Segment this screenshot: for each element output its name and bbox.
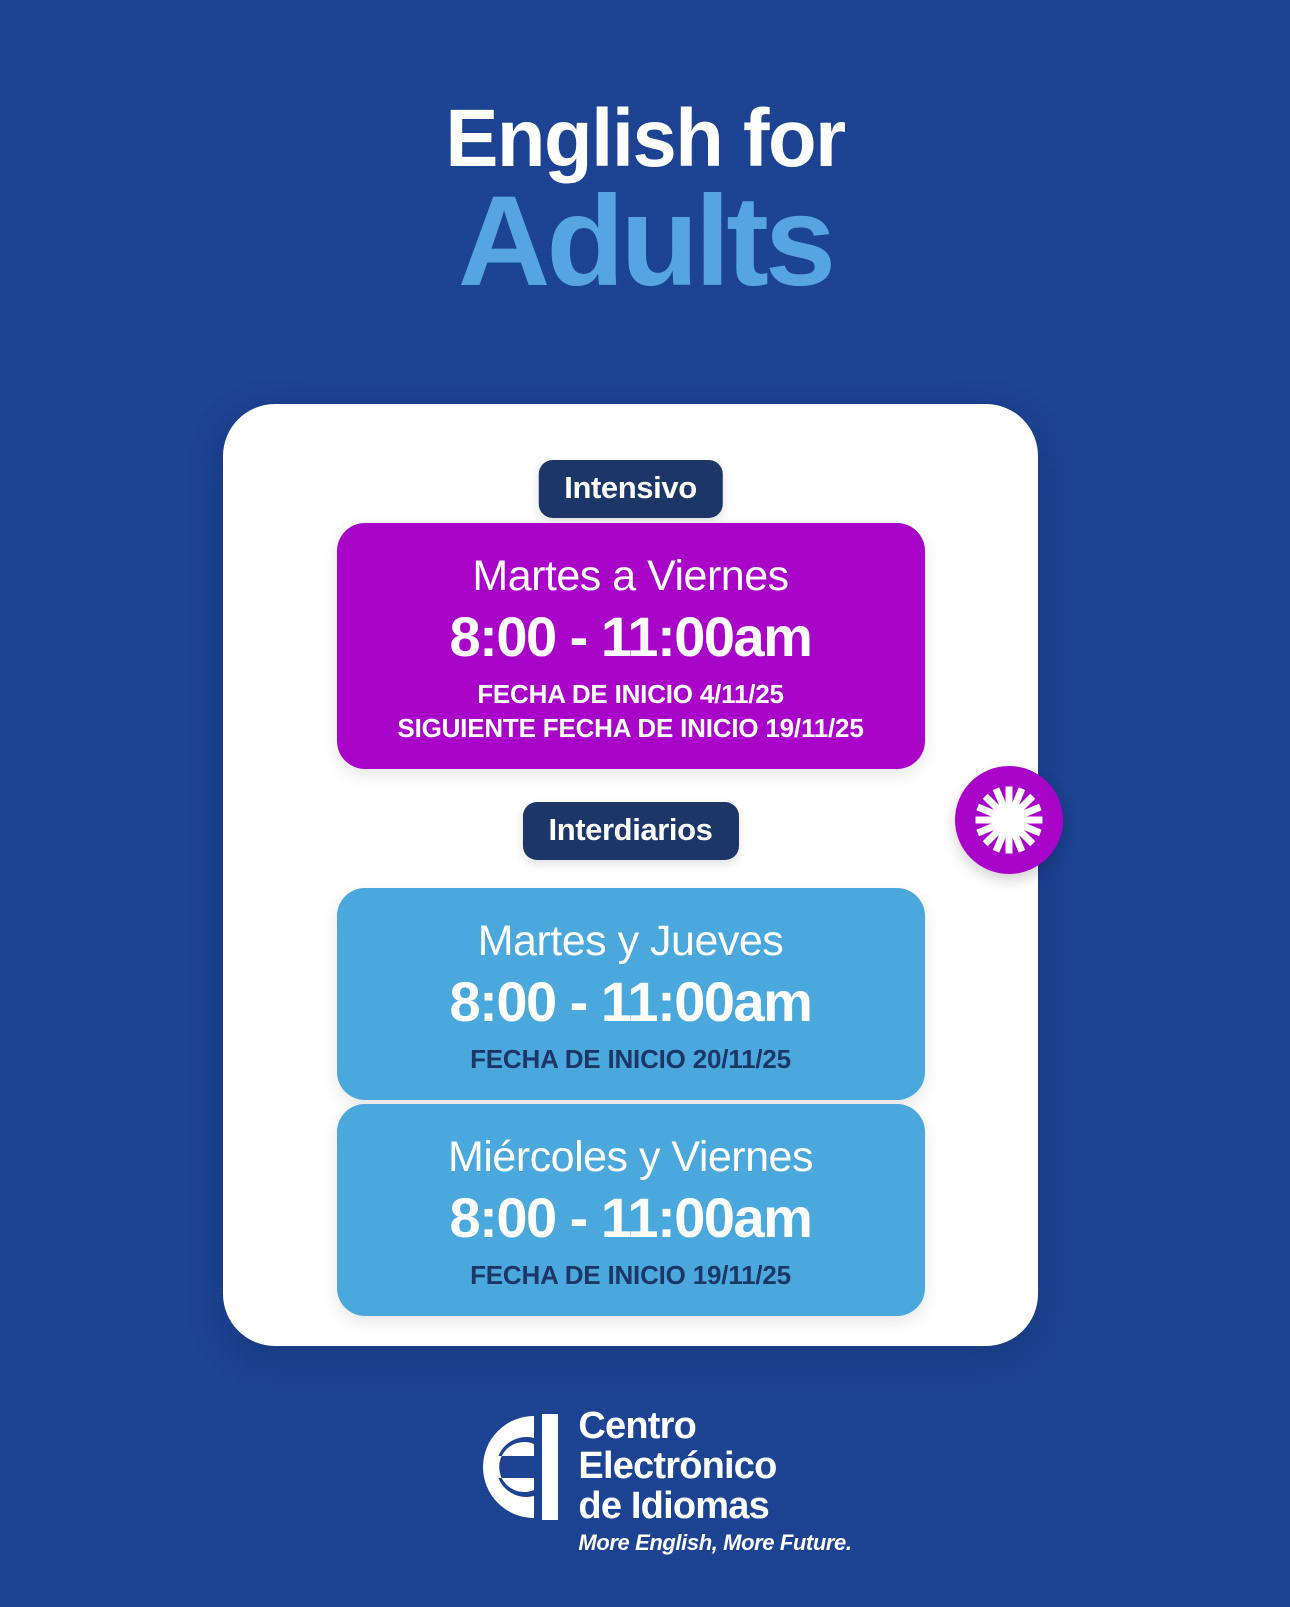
- card-time-label: 8:00 - 11:00am: [355, 1186, 907, 1250]
- card-next-start-date: SIGUIENTE FECHA DE INICIO 19/11/25: [355, 711, 907, 745]
- card-days-label: Martes a Viernes: [355, 549, 907, 603]
- schedule-panel: Intensivo Martes a Viernes 8:00 - 11:00a…: [223, 404, 1038, 1346]
- card-start-date: FECHA DE INICIO 20/11/25: [355, 1042, 907, 1076]
- title-line-adults: Adults: [458, 176, 832, 308]
- brand-logo: Centro Electrónico de Idiomas More Engli…: [0, 1392, 1290, 1555]
- poster-title: English for Adults: [0, 96, 1290, 308]
- section-badge-interdiarios: Interdiarios: [522, 802, 738, 860]
- card-dates-group: FECHA DE INICIO 19/11/25: [355, 1258, 907, 1292]
- schedule-card-martes-jueves[interactable]: Martes y Jueves 8:00 - 11:00am FECHA DE …: [337, 888, 925, 1100]
- card-days-label: Martes y Jueves: [355, 914, 907, 968]
- poster-canvas: English for Adults Intensivo Martes a Vi…: [0, 0, 1290, 1607]
- brand-line-electronico: Electrónico: [578, 1446, 851, 1486]
- card-dates-group: FECHA DE INICIO 4/11/25 SIGUIENTE FECHA …: [355, 677, 907, 745]
- card-start-date: FECHA DE INICIO 4/11/25: [355, 677, 907, 711]
- card-days-label: Miércoles y Viernes: [355, 1130, 907, 1184]
- card-time-label: 8:00 - 11:00am: [355, 970, 907, 1034]
- card-dates-group: FECHA DE INICIO 20/11/25: [355, 1042, 907, 1076]
- card-time-label: 8:00 - 11:00am: [355, 605, 907, 669]
- schedule-card-intensivo[interactable]: Martes a Viernes 8:00 - 11:00am FECHA DE…: [337, 523, 925, 769]
- brand-wordmark: Centro Electrónico de Idiomas More Engli…: [578, 1392, 851, 1555]
- brand-tagline: More English, More Future.: [578, 1531, 851, 1555]
- ce-monogram-icon: [438, 1392, 566, 1542]
- asterisk-starburst-icon: [955, 766, 1063, 874]
- card-start-date: FECHA DE INICIO 19/11/25: [355, 1258, 907, 1292]
- brand-line-de-idiomas: de Idiomas: [578, 1486, 851, 1526]
- brand-line-centro: Centro: [578, 1406, 851, 1446]
- section-badge-intensivo: Intensivo: [538, 460, 722, 518]
- schedule-card-miercoles-viernes[interactable]: Miércoles y Viernes 8:00 - 11:00am FECHA…: [337, 1104, 925, 1316]
